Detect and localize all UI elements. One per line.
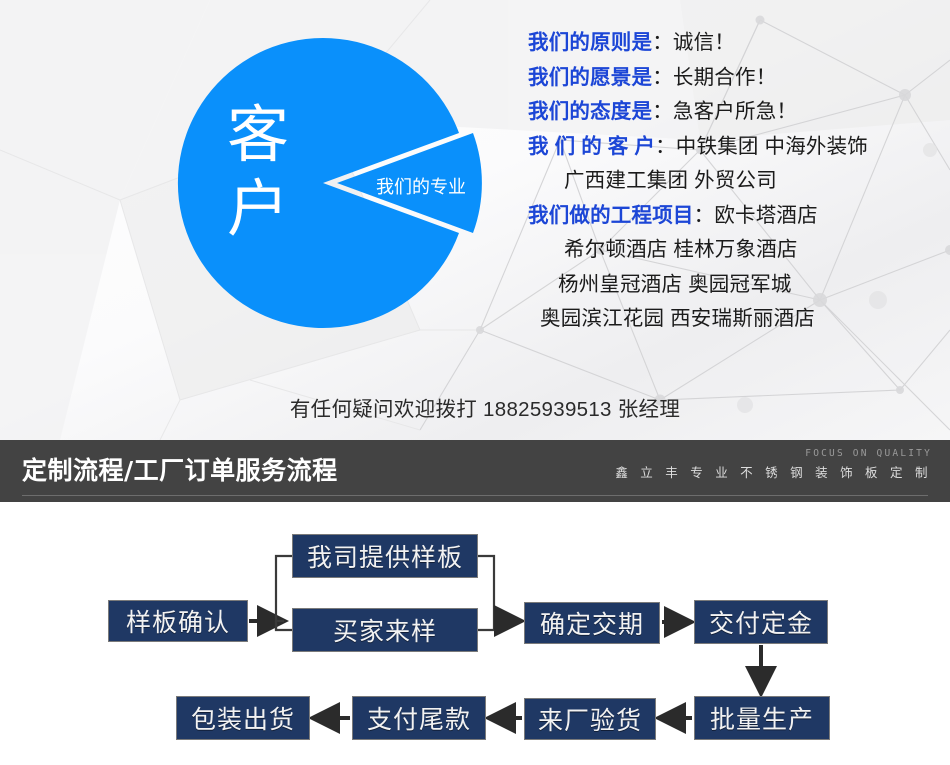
info-value: 杨州皇冠酒店 奥园冠军城 xyxy=(558,273,792,296)
banner-title: 定制流程/工厂订单服务流程 xyxy=(22,451,338,487)
info-value: 长期合作！ xyxy=(673,66,777,89)
flow-node-factory-inspect[interactable]: 来厂验货 xyxy=(524,698,656,740)
flow-node-buyer-sample[interactable]: 买家来样 xyxy=(292,608,478,652)
info-line-clients: 我 们 的 客 户：中铁集团 中海外装饰 xyxy=(528,130,940,165)
brace-left xyxy=(276,556,292,621)
info-value: 广西建工集团 外贸公司 xyxy=(564,169,777,192)
info-label: 我们的态度是 xyxy=(528,100,652,123)
contact-phone-line: 有任何疑问欢迎拨打 18825939513 张经理 xyxy=(0,392,950,422)
info-value: 希尔顿酒店 桂林万象酒店 xyxy=(564,238,798,261)
pie-wedge-label: 我们的专业 xyxy=(376,177,466,198)
info-line-vision: 我们的愿景是：长期合作！ xyxy=(528,61,940,96)
info-line-projects: 我们做的工程项目：欧卡塔酒店 xyxy=(528,199,940,234)
hero-section: 客 户 我们的专业 我们的原则是：诚信！ 我们的愿景是：长期合作！ 我们的态度是… xyxy=(0,0,950,440)
info-label: 我 们 的 客 户 xyxy=(528,135,655,158)
banner-brand-block: FOCUS ON QUALITY 鑫 立 丰 专 业 不 锈 钢 装 饰 板 定… xyxy=(615,446,932,483)
info-label: 我们的愿景是 xyxy=(528,66,652,89)
info-label: 我们的原则是 xyxy=(528,31,652,54)
flow-node-mass-production[interactable]: 批量生产 xyxy=(694,696,830,740)
section-banner: 定制流程/工厂订单服务流程 FOCUS ON QUALITY 鑫 立 丰 专 业… xyxy=(0,440,950,502)
info-line-projects-2: 希尔顿酒店 桂林万象酒店 xyxy=(528,233,940,268)
info-value: 中铁集团 中海外装饰 xyxy=(676,135,868,158)
brace-right-bottom xyxy=(478,621,494,630)
flow-node-sample-confirm[interactable]: 样板确认 xyxy=(108,600,248,642)
company-info-list: 我们的原则是：诚信！ 我们的愿景是：长期合作！ 我们的态度是：急客户所急！ 我 … xyxy=(528,26,940,337)
info-line-principle: 我们的原则是：诚信！ xyxy=(528,26,940,61)
flow-node-we-provide-sample[interactable]: 我司提供样板 xyxy=(292,534,478,578)
flow-node-pack-ship[interactable]: 包装出货 xyxy=(176,696,310,740)
info-value: 奥园滨江花园 西安瑞斯丽酒店 xyxy=(540,307,815,330)
info-line-clients-cont: 广西建工集团 外贸公司 xyxy=(528,164,940,199)
promo-page: 客 户 我们的专业 我们的原则是：诚信！ 我们的愿景是：长期合作！ 我们的态度是… xyxy=(0,0,950,765)
info-sep: ： xyxy=(694,204,715,227)
process-flowchart: 样板确认 我司提供样板 买家来样 确定交期 交付定金 批量生产 来厂验货 支付尾… xyxy=(0,502,950,765)
info-value: 诚信！ xyxy=(673,31,735,54)
pie-svg: 客 户 我们的专业 xyxy=(168,28,508,338)
info-line-projects-3: 杨州皇冠酒店 奥园冠军城 xyxy=(528,268,940,303)
flow-node-pay-deposit[interactable]: 交付定金 xyxy=(694,600,828,644)
banner-chinese-tagline: 鑫 立 丰 专 业 不 锈 钢 装 饰 板 定 制 xyxy=(615,461,932,483)
info-line-attitude: 我们的态度是：急客户所急！ xyxy=(528,95,940,130)
info-sep: ： xyxy=(652,100,673,123)
pie-main-label: 客 xyxy=(227,98,289,171)
info-sep: ： xyxy=(652,66,673,89)
info-value: 欧卡塔酒店 xyxy=(714,204,818,227)
info-value: 急客户所急！ xyxy=(673,100,797,123)
info-line-projects-4: 奥园滨江花园 西安瑞斯丽酒店 xyxy=(528,302,940,337)
pie-chart-graphic: 客 户 我们的专业 xyxy=(168,28,508,338)
flow-node-pay-balance[interactable]: 支付尾款 xyxy=(352,696,486,740)
info-label: 我们做的工程项目 xyxy=(528,204,694,227)
banner-english-tagline: FOCUS ON QUALITY xyxy=(615,446,932,461)
brace-right-top xyxy=(478,556,494,621)
info-sep: ： xyxy=(652,31,673,54)
flow-node-confirm-delivery[interactable]: 确定交期 xyxy=(524,602,660,644)
pie-main-label-2: 户 xyxy=(227,172,289,245)
banner-divider xyxy=(22,495,928,496)
info-sep: ： xyxy=(655,135,676,158)
contact-phone-text: 有任何疑问欢迎拨打 18825939513 张经理 xyxy=(270,392,680,422)
